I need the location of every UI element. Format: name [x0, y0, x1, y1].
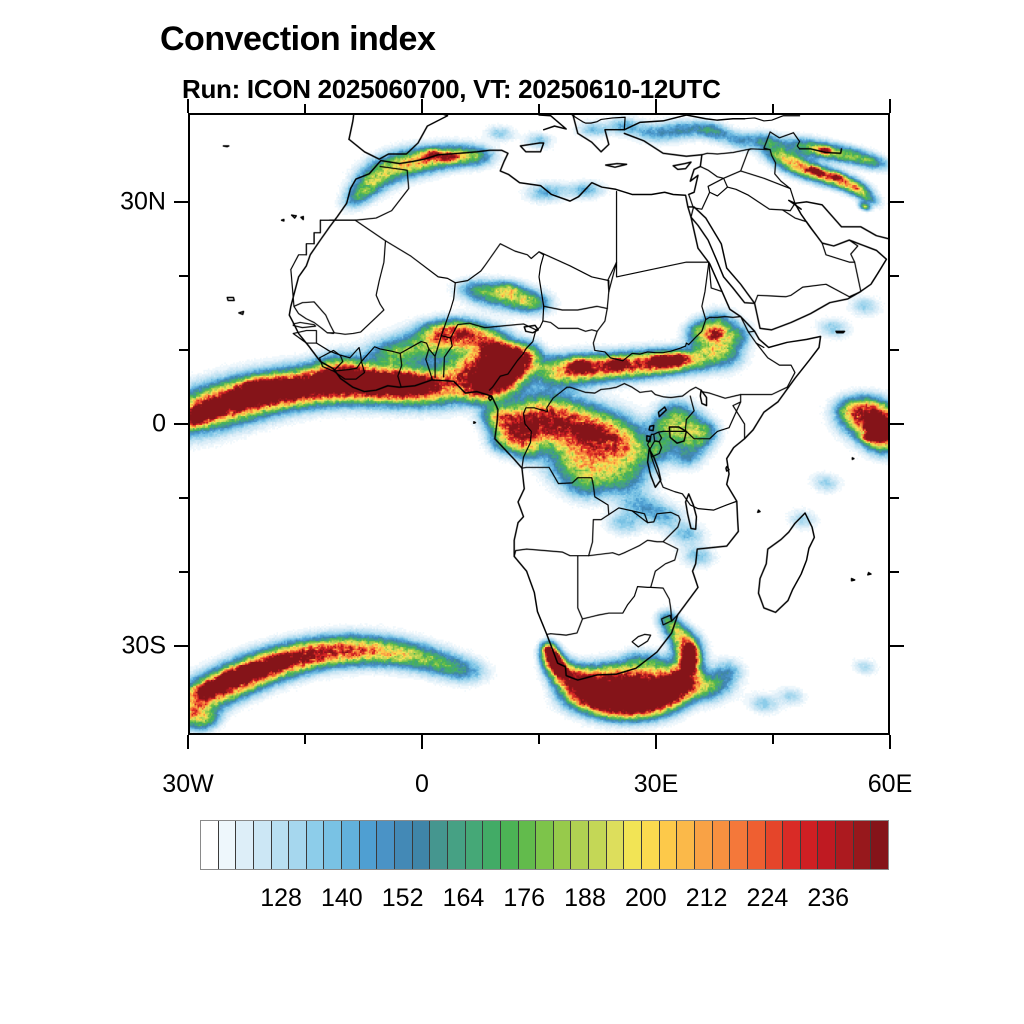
colorbar-label-212: 212: [686, 884, 728, 913]
colorbar-label-176: 176: [503, 884, 545, 913]
colorbar-label-152: 152: [382, 884, 424, 913]
colorbar-segment-23: [607, 821, 625, 869]
colorbar-segment-21: [571, 821, 589, 869]
colorbar-segment-18: [519, 821, 537, 869]
colorbar-segment-7: [324, 821, 342, 869]
colorbar-segment-10: [377, 821, 395, 869]
convection-index-map: [190, 115, 888, 733]
colorbar-segment-16: [483, 821, 501, 869]
colorbar-label-224: 224: [747, 884, 789, 913]
colorbar-segment-3: [254, 821, 272, 869]
x-axis-label-60E: 60E: [868, 770, 912, 799]
chart-page: Convection index Run: ICON 2025060700, V…: [0, 0, 1024, 1024]
x-tick-top-0: [187, 99, 189, 113]
y-tick-right-1: [890, 275, 899, 277]
colorbar-segment-8: [342, 821, 360, 869]
y-tick-5: [179, 571, 188, 573]
x-axis-label-0: 0: [415, 770, 429, 799]
x-tick-1: [304, 735, 306, 744]
chart-subtitle: Run: ICON 2025060700, VT: 20250610-12UTC: [182, 74, 721, 105]
colorbar-segment-17: [501, 821, 519, 869]
colorbar-segment-33: [783, 821, 801, 869]
colorbar-segment-37: [854, 821, 872, 869]
colorbar-segment-30: [730, 821, 748, 869]
y-axis-label-30N: 30N: [0, 187, 166, 216]
colorbar-segment-12: [413, 821, 431, 869]
colorbar-label-236: 236: [807, 884, 849, 913]
colorbar-label-188: 188: [564, 884, 606, 913]
colorbar-segment-27: [677, 821, 695, 869]
y-tick-right-0: [890, 201, 904, 203]
colorbar-segment-1: [219, 821, 237, 869]
y-tick-2: [179, 349, 188, 351]
colorbar-segment-22: [589, 821, 607, 869]
x-axis-label-30E: 30E: [634, 770, 678, 799]
colorbar: [200, 820, 889, 870]
colorbar-segment-26: [660, 821, 678, 869]
colorbar-label-200: 200: [625, 884, 667, 913]
colorbar-segment-2: [236, 821, 254, 869]
y-tick-right-4: [890, 497, 899, 499]
colorbar-segment-38: [871, 821, 888, 869]
colorbar-segment-32: [766, 821, 784, 869]
colorbar-segment-11: [395, 821, 413, 869]
colorbar-label-140: 140: [321, 884, 363, 913]
colorbar-segment-24: [624, 821, 642, 869]
y-axis-label-0: 0: [0, 410, 166, 439]
x-tick-6: [889, 735, 891, 749]
x-tick-top-4: [655, 99, 657, 113]
y-tick-right-5: [890, 571, 899, 573]
x-tick-top-3: [538, 104, 540, 113]
x-tick-0: [187, 735, 189, 749]
y-tick-right-6: [890, 645, 904, 647]
colorbar-segment-5: [289, 821, 307, 869]
colorbar-label-164: 164: [443, 884, 485, 913]
y-tick-right-3: [890, 423, 904, 425]
colorbar-label-128: 128: [260, 884, 302, 913]
colorbar-tick-labels: 128140152164176188200212224236: [200, 884, 889, 916]
x-tick-top-1: [304, 104, 306, 113]
x-tick-top-5: [772, 104, 774, 113]
colorbar-segment-9: [360, 821, 378, 869]
y-tick-1: [179, 275, 188, 277]
colorbar-segment-34: [801, 821, 819, 869]
x-tick-4: [655, 735, 657, 749]
colorbar-segment-29: [713, 821, 731, 869]
x-axis-label-30W: 30W: [162, 770, 213, 799]
colorbar-segment-28: [695, 821, 713, 869]
y-tick-4: [179, 497, 188, 499]
colorbar-segment-6: [307, 821, 325, 869]
colorbar-segment-0: [201, 821, 219, 869]
colorbar-segment-36: [836, 821, 854, 869]
y-tick-0: [174, 201, 188, 203]
page-title: Convection index: [160, 20, 435, 59]
x-tick-3: [538, 735, 540, 744]
colorbar-segment-4: [272, 821, 290, 869]
map-plot-area: [188, 113, 890, 735]
colorbar-segment-15: [466, 821, 484, 869]
colorbar-segment-31: [748, 821, 766, 869]
y-tick-6: [174, 645, 188, 647]
colorbar-segment-25: [642, 821, 660, 869]
y-tick-right-2: [890, 349, 899, 351]
y-tick-3: [174, 423, 188, 425]
y-axis-label-30S: 30S: [0, 632, 166, 661]
x-tick-2: [421, 735, 423, 749]
colorbar-segment-20: [554, 821, 572, 869]
x-tick-top-2: [421, 99, 423, 113]
colorbar-segment-35: [818, 821, 836, 869]
colorbar-segment-19: [536, 821, 554, 869]
x-tick-top-6: [889, 99, 891, 113]
colorbar-segment-14: [448, 821, 466, 869]
x-tick-5: [772, 735, 774, 744]
colorbar-segment-13: [430, 821, 448, 869]
